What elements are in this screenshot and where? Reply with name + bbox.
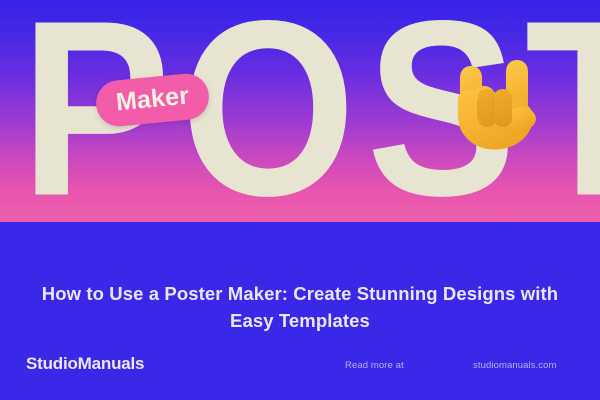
hero-letter-o: O bbox=[181, 18, 353, 198]
content-area: How to Use a Poster Maker: Create Stunni… bbox=[0, 222, 600, 400]
footer-bar: StudioManuals Read more at studiomanuals… bbox=[0, 348, 600, 400]
maker-badge: Maker bbox=[94, 72, 211, 129]
maker-badge-label: Maker bbox=[115, 83, 190, 116]
poster-thumbnail-card: P O S T E R Maker bbox=[0, 0, 600, 400]
site-url-link[interactable]: studiomanuals.com bbox=[473, 360, 557, 371]
brand-logo-text: StudioManuals bbox=[26, 354, 144, 374]
hero-banner: P O S T E R Maker bbox=[0, 0, 600, 222]
read-more-label: Read more at bbox=[345, 360, 404, 371]
article-headline: How to Use a Poster Maker: Create Stunni… bbox=[40, 280, 560, 334]
love-you-gesture-hand-emoji bbox=[434, 48, 546, 160]
